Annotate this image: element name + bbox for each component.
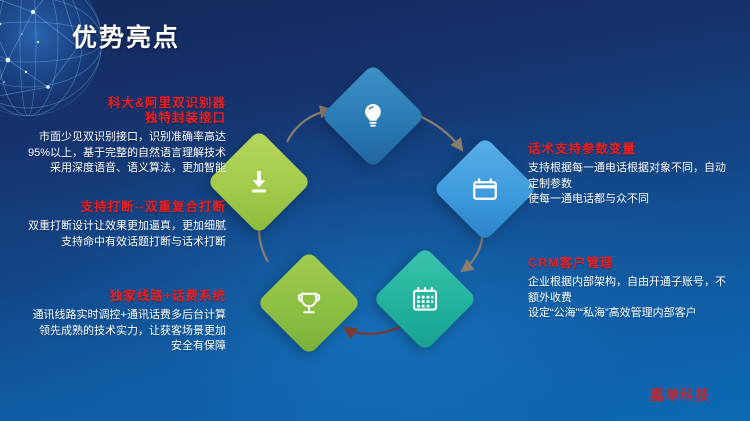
- feature-block-5: CRM客户管理 企业根据内部架构，自由开通子账号，不 额外收费 设定“公海”“私…: [528, 256, 742, 322]
- arrow-top-to-right: [417, 115, 462, 150]
- slide-canvas: 优势亮点: [0, 0, 750, 421]
- lightbulb-icon: [336, 79, 410, 153]
- feature-block-3: 独家线路+话费系统 通讯线路实时调控+通讯话费多后台计算 领先成熟的技术实力，让…: [14, 289, 226, 355]
- feature-heading: 支持打断--双重复合打断: [14, 200, 226, 215]
- node-bottom-left[interactable]: [257, 251, 362, 356]
- node-top[interactable]: [321, 64, 426, 169]
- page-title: 优势亮点: [72, 18, 180, 54]
- feature-heading: 话术支持参数变量: [528, 142, 742, 157]
- feature-block-4: 话术支持参数变量 支持根据每一通电话根据对象不同，自动 定制参数 使每一通电话都…: [528, 142, 742, 208]
- download-icon: [222, 145, 296, 219]
- node-right[interactable]: [433, 137, 538, 242]
- trophy-icon: [272, 266, 346, 340]
- feature-heading-line-1: 科大&阿里双识别器: [14, 96, 226, 111]
- feature-body: 通讯线路实时调控+通讯话费多后台计算 领先成熟的技术实力，让获客场景更加 安全有…: [14, 308, 226, 355]
- node-bottom-right[interactable]: [373, 247, 478, 352]
- feature-heading: 科大&阿里双识别器 独特封装接口: [14, 96, 226, 126]
- briefcase-icon: [448, 152, 522, 226]
- calendar-icon: [388, 262, 462, 336]
- company-logo: 嘉单科技: [650, 385, 710, 405]
- feature-heading: CRM客户管理: [528, 256, 742, 271]
- feature-block-2: 支持打断--双重复合打断 双重打断设计让效果更加逼真，更加细腻 支持命中有效话题…: [14, 200, 226, 250]
- feature-body: 双重打断设计让效果更加逼真，更加细腻 支持命中有效话题打断与话术打断: [14, 219, 226, 250]
- feature-heading: 独家线路+话费系统: [14, 289, 226, 304]
- feature-body: 支持根据每一通电话根据对象不同，自动 定制参数 使每一通电话都与众不同: [528, 161, 742, 208]
- feature-body: 企业根据内部架构，自由开通子账号，不 额外收费 设定“公海”“私海”高效管理内部…: [528, 275, 742, 322]
- feature-block-1: 科大&阿里双识别器 独特封装接口 市面少见双识别接口，识别准确率高达 95%以上…: [14, 96, 226, 177]
- feature-body: 市面少见双识别接口，识别准确率高达 95%以上，基于完整的自然语言理解技术 采用…: [14, 130, 226, 177]
- feature-heading-line-2: 独特封装接口: [14, 111, 226, 126]
